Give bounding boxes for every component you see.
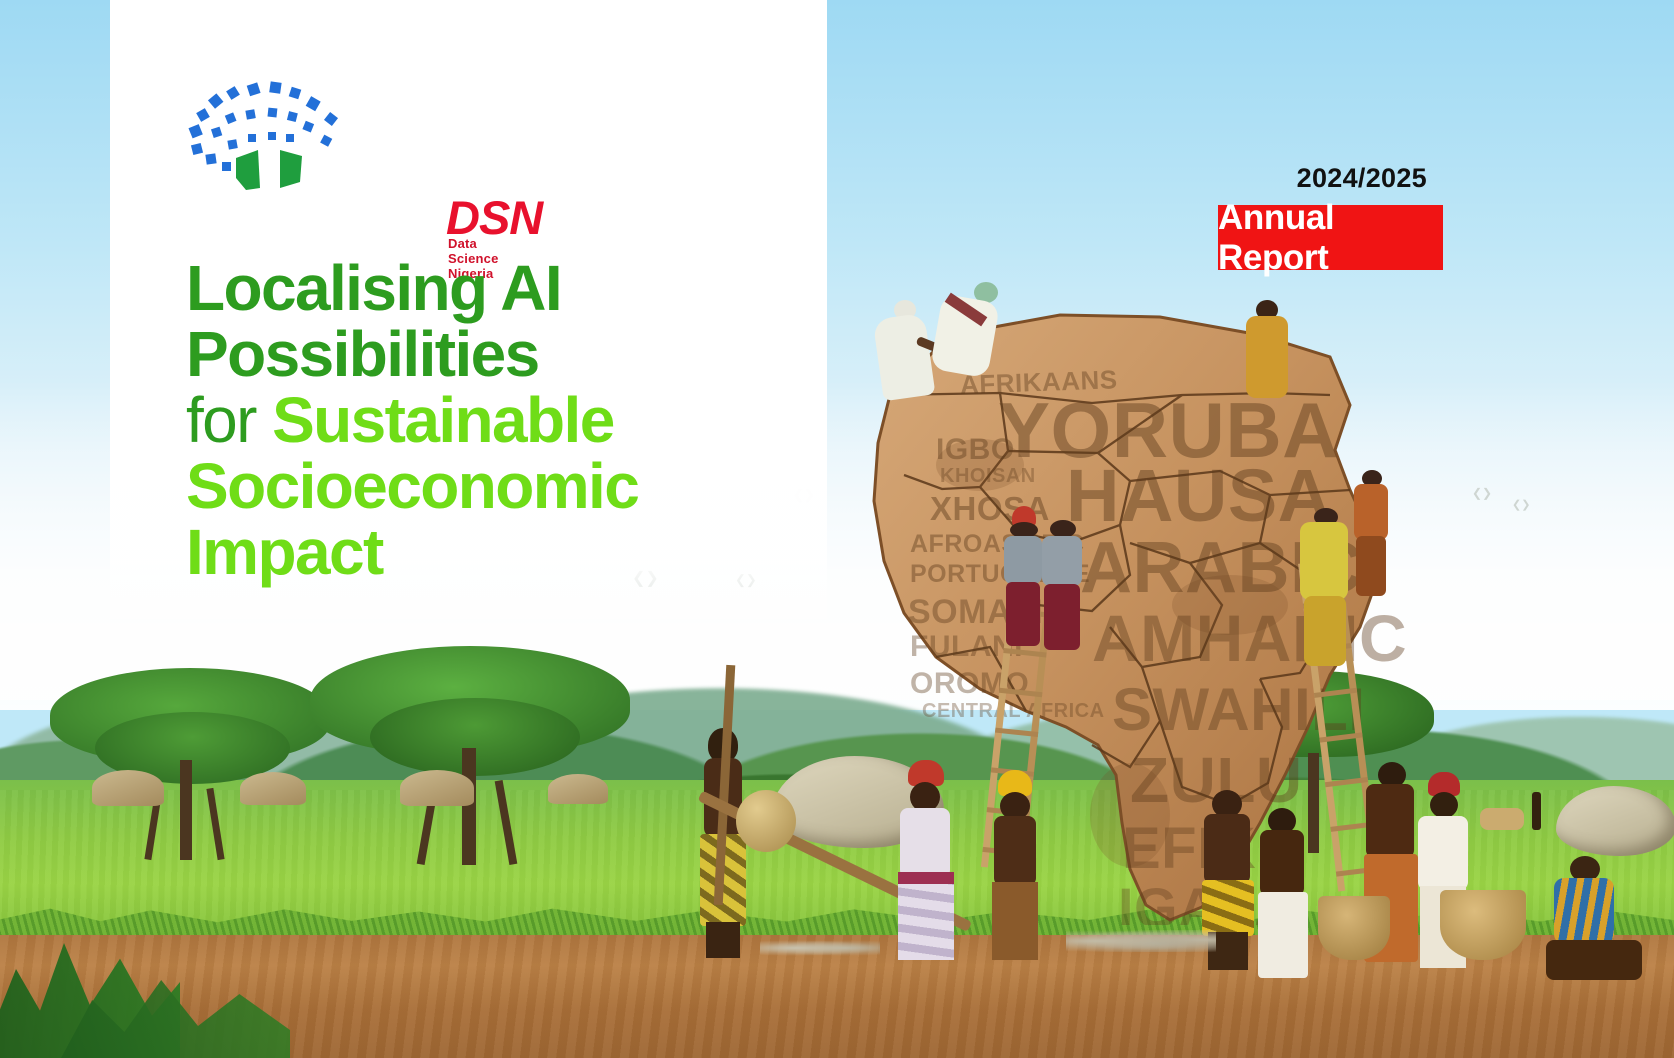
dsn-logo[interactable]: DSN Data Science Nigeria — [176, 70, 396, 190]
figure-villager — [978, 770, 1050, 960]
acacia-tree — [40, 660, 340, 860]
nigeria-map-shape — [236, 150, 302, 190]
bird-icon: ❮❯ — [1472, 486, 1492, 500]
figure-villager — [886, 760, 964, 960]
village-hut — [548, 774, 608, 804]
annual-report-label: Annual Report — [1218, 198, 1443, 278]
rubble — [1066, 930, 1216, 952]
figure-climber — [1036, 520, 1090, 670]
figure-sculptor — [1238, 300, 1296, 398]
village-hut — [400, 770, 474, 806]
figure-sculptor — [928, 282, 1002, 392]
page-title: Localising AI Possibilities for Sustaina… — [186, 255, 786, 585]
animal-donkey — [1480, 808, 1524, 830]
rubble — [760, 940, 880, 956]
figure-climber — [1296, 508, 1354, 668]
basket — [1440, 890, 1526, 960]
calabash — [736, 790, 796, 852]
report-year: 2024/2025 — [1297, 163, 1427, 194]
title-line-1: Localising AI — [186, 255, 786, 321]
annual-report-badge: Annual Report — [1218, 205, 1443, 270]
figure-seated — [1540, 856, 1644, 986]
title-line-3-accent: Sustainable — [272, 384, 614, 456]
report-cover-page: ❮❯ ❮❯ ❮❯ ❮❯ ❮❯ — [0, 0, 1674, 1058]
figure-climber — [1348, 470, 1396, 600]
basket — [1318, 896, 1390, 960]
village-hut — [92, 770, 164, 806]
title-line-3-prefix: for — [186, 384, 272, 456]
village-hut — [240, 772, 306, 805]
boulder — [1556, 786, 1674, 856]
acacia-tree — [300, 640, 640, 865]
figure-villager — [1248, 808, 1318, 978]
title-line-2: Possibilities — [186, 321, 786, 387]
bird-icon: ❮❯ — [1512, 498, 1530, 511]
title-line-5: Impact — [186, 519, 786, 585]
dsn-logo-icon — [176, 70, 396, 190]
title-line-4: Socioeconomic — [186, 453, 786, 519]
figure-herder — [1532, 792, 1541, 830]
title-line-3: for Sustainable — [186, 387, 786, 453]
